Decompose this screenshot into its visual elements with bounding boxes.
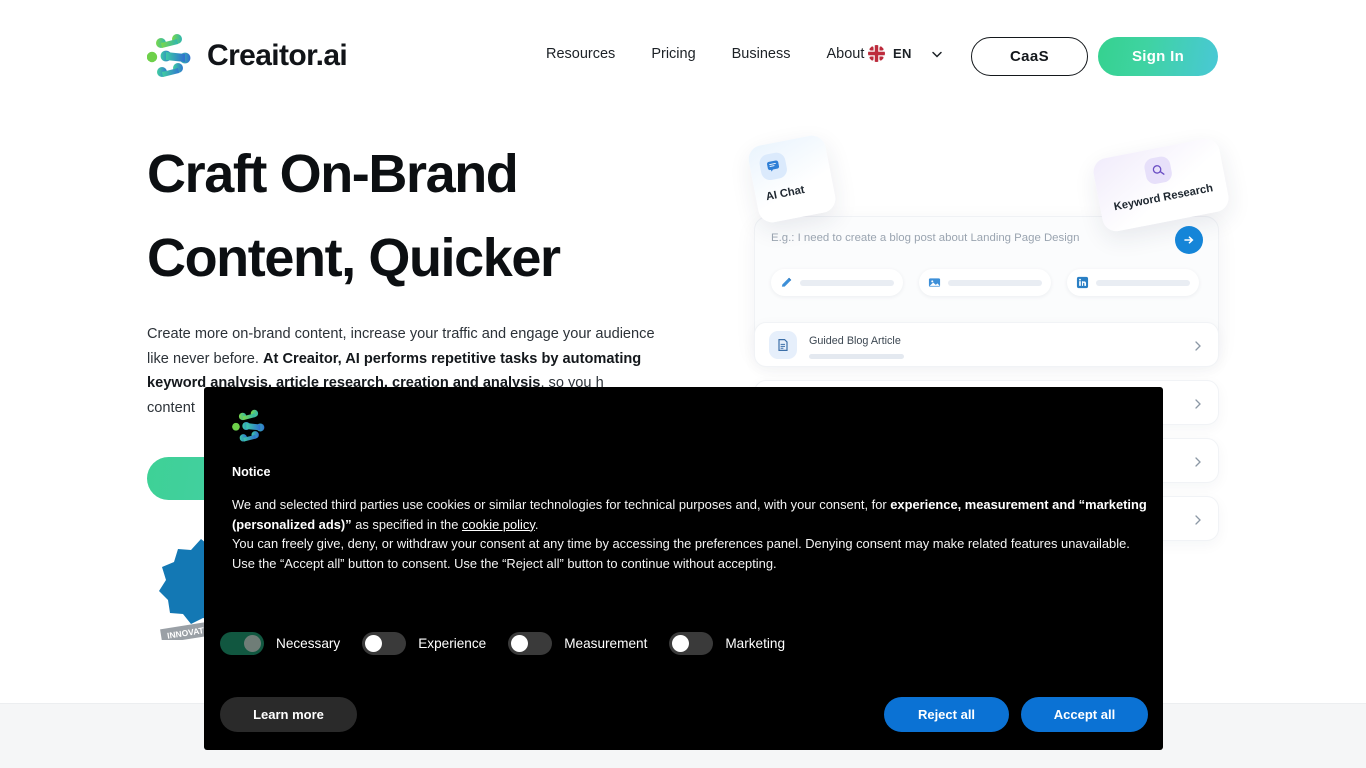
language-selector[interactable]: EN: [868, 45, 944, 62]
chevron-down-icon[interactable]: [920, 47, 944, 61]
pencil-icon: [780, 276, 793, 289]
toggle-knob: [365, 635, 382, 652]
linkedin-icon: [1076, 276, 1089, 289]
nav-item-business[interactable]: Business: [732, 46, 791, 62]
creaitor-nodes-logo-icon: [220, 409, 1147, 443]
toggle-knob: [672, 635, 689, 652]
prompt-shortcut-pills: [771, 269, 1199, 296]
page-title: Craft On-Brand Content, Quicker: [147, 132, 707, 300]
caas-button[interactable]: CaaS: [971, 37, 1088, 76]
skeleton-bar: [948, 280, 1042, 286]
toggle-knob: [511, 635, 528, 652]
toggle-label-necessary: Necessary: [276, 636, 340, 651]
shortcut-pill-linkedin[interactable]: [1067, 269, 1199, 296]
arrow-right-icon: [1182, 233, 1196, 247]
toggle-group-measurement: Measurement: [508, 632, 647, 655]
accept-all-button[interactable]: Accept all: [1021, 697, 1148, 732]
brand-logo[interactable]: Creaitor.ai: [147, 33, 347, 79]
nav-item-resources[interactable]: Resources: [546, 46, 615, 62]
site-header: Creaitor.ai Resources Pricing Business A…: [0, 0, 1366, 112]
toggle-knob: [244, 635, 261, 652]
skeleton-bar: [800, 280, 894, 286]
toggle-measurement[interactable]: [508, 632, 552, 655]
list-item-guided-blog-article[interactable]: Guided Blog Article: [754, 322, 1219, 367]
chevron-right-icon[interactable]: [1192, 397, 1204, 409]
list-item-title: Guided Blog Article: [809, 335, 901, 347]
language-code: EN: [893, 46, 912, 61]
hero-title-line2: Content, Quicker: [147, 228, 560, 288]
creaitor-nodes-logo-icon: [147, 33, 195, 79]
toggle-necessary[interactable]: [220, 632, 264, 655]
chevron-right-icon[interactable]: [1192, 455, 1204, 467]
toggle-group-necessary: Necessary: [220, 632, 340, 655]
hero-paragraph-last-line: content: [147, 400, 195, 416]
toggle-label-experience: Experience: [418, 636, 486, 651]
brand-name: Creaitor.ai: [207, 39, 347, 73]
image-icon: [928, 276, 941, 289]
ai-chat-tag-label: AI Chat: [765, 180, 824, 203]
cookie-body-line2: You can freely give, deny, or withdraw y…: [232, 536, 1130, 551]
toggle-group-experience: Experience: [362, 632, 486, 655]
cookie-body-part1: We and selected third parties use cookie…: [232, 497, 890, 512]
uk-flag-icon: [868, 45, 885, 62]
toggle-marketing[interactable]: [669, 632, 713, 655]
hero-title-line1: Craft On-Brand: [147, 144, 517, 204]
signin-button[interactable]: Sign In: [1098, 37, 1218, 76]
skeleton-bar: [1096, 280, 1190, 286]
toggle-label-marketing: Marketing: [725, 636, 785, 651]
document-icon: [769, 331, 797, 359]
search-icon: [1143, 155, 1173, 185]
cookie-body-part3: .: [535, 517, 539, 532]
nav-item-pricing[interactable]: Pricing: [651, 46, 695, 62]
ai-chat-tag-card[interactable]: AI Chat: [746, 133, 837, 224]
hero-section: Craft On-Brand Content, Quicker Create m…: [147, 132, 707, 420]
skeleton-bar: [809, 354, 904, 359]
cookie-consent-banner: Notice We and selected third parties use…: [204, 387, 1163, 750]
cookie-preference-toggles: Necessary Experience Measurement Marketi…: [220, 632, 807, 655]
prompt-placeholder: E.g.: I need to create a blog post about…: [771, 232, 1079, 244]
learn-more-button[interactable]: Learn more: [220, 697, 357, 732]
shortcut-pill-image[interactable]: [919, 269, 1051, 296]
cookie-body-part2: as specified in the: [352, 517, 462, 532]
cookie-banner-actions: Learn more Reject all Accept all: [220, 697, 1148, 732]
chevron-right-icon[interactable]: [1192, 339, 1204, 351]
nav-item-about[interactable]: About: [826, 46, 864, 62]
toggle-group-marketing: Marketing: [669, 632, 785, 655]
cookie-banner-title: Notice: [232, 465, 1147, 479]
chat-bubble-icon: [758, 151, 788, 181]
reject-all-button[interactable]: Reject all: [884, 697, 1009, 732]
keyword-research-tag-label: Keyword Research: [1109, 182, 1217, 214]
shortcut-pill-write[interactable]: [771, 269, 903, 296]
toggle-label-measurement: Measurement: [564, 636, 647, 651]
main-nav: Resources Pricing Business About: [546, 46, 864, 62]
cookie-body-line3: Use the “Accept all” button to consent. …: [232, 556, 777, 571]
toggle-experience[interactable]: [362, 632, 406, 655]
send-prompt-button[interactable]: [1175, 226, 1203, 254]
cookie-policy-link[interactable]: cookie policy: [462, 517, 535, 532]
chevron-right-icon[interactable]: [1192, 513, 1204, 525]
cookie-banner-body: We and selected third parties use cookie…: [232, 495, 1156, 573]
